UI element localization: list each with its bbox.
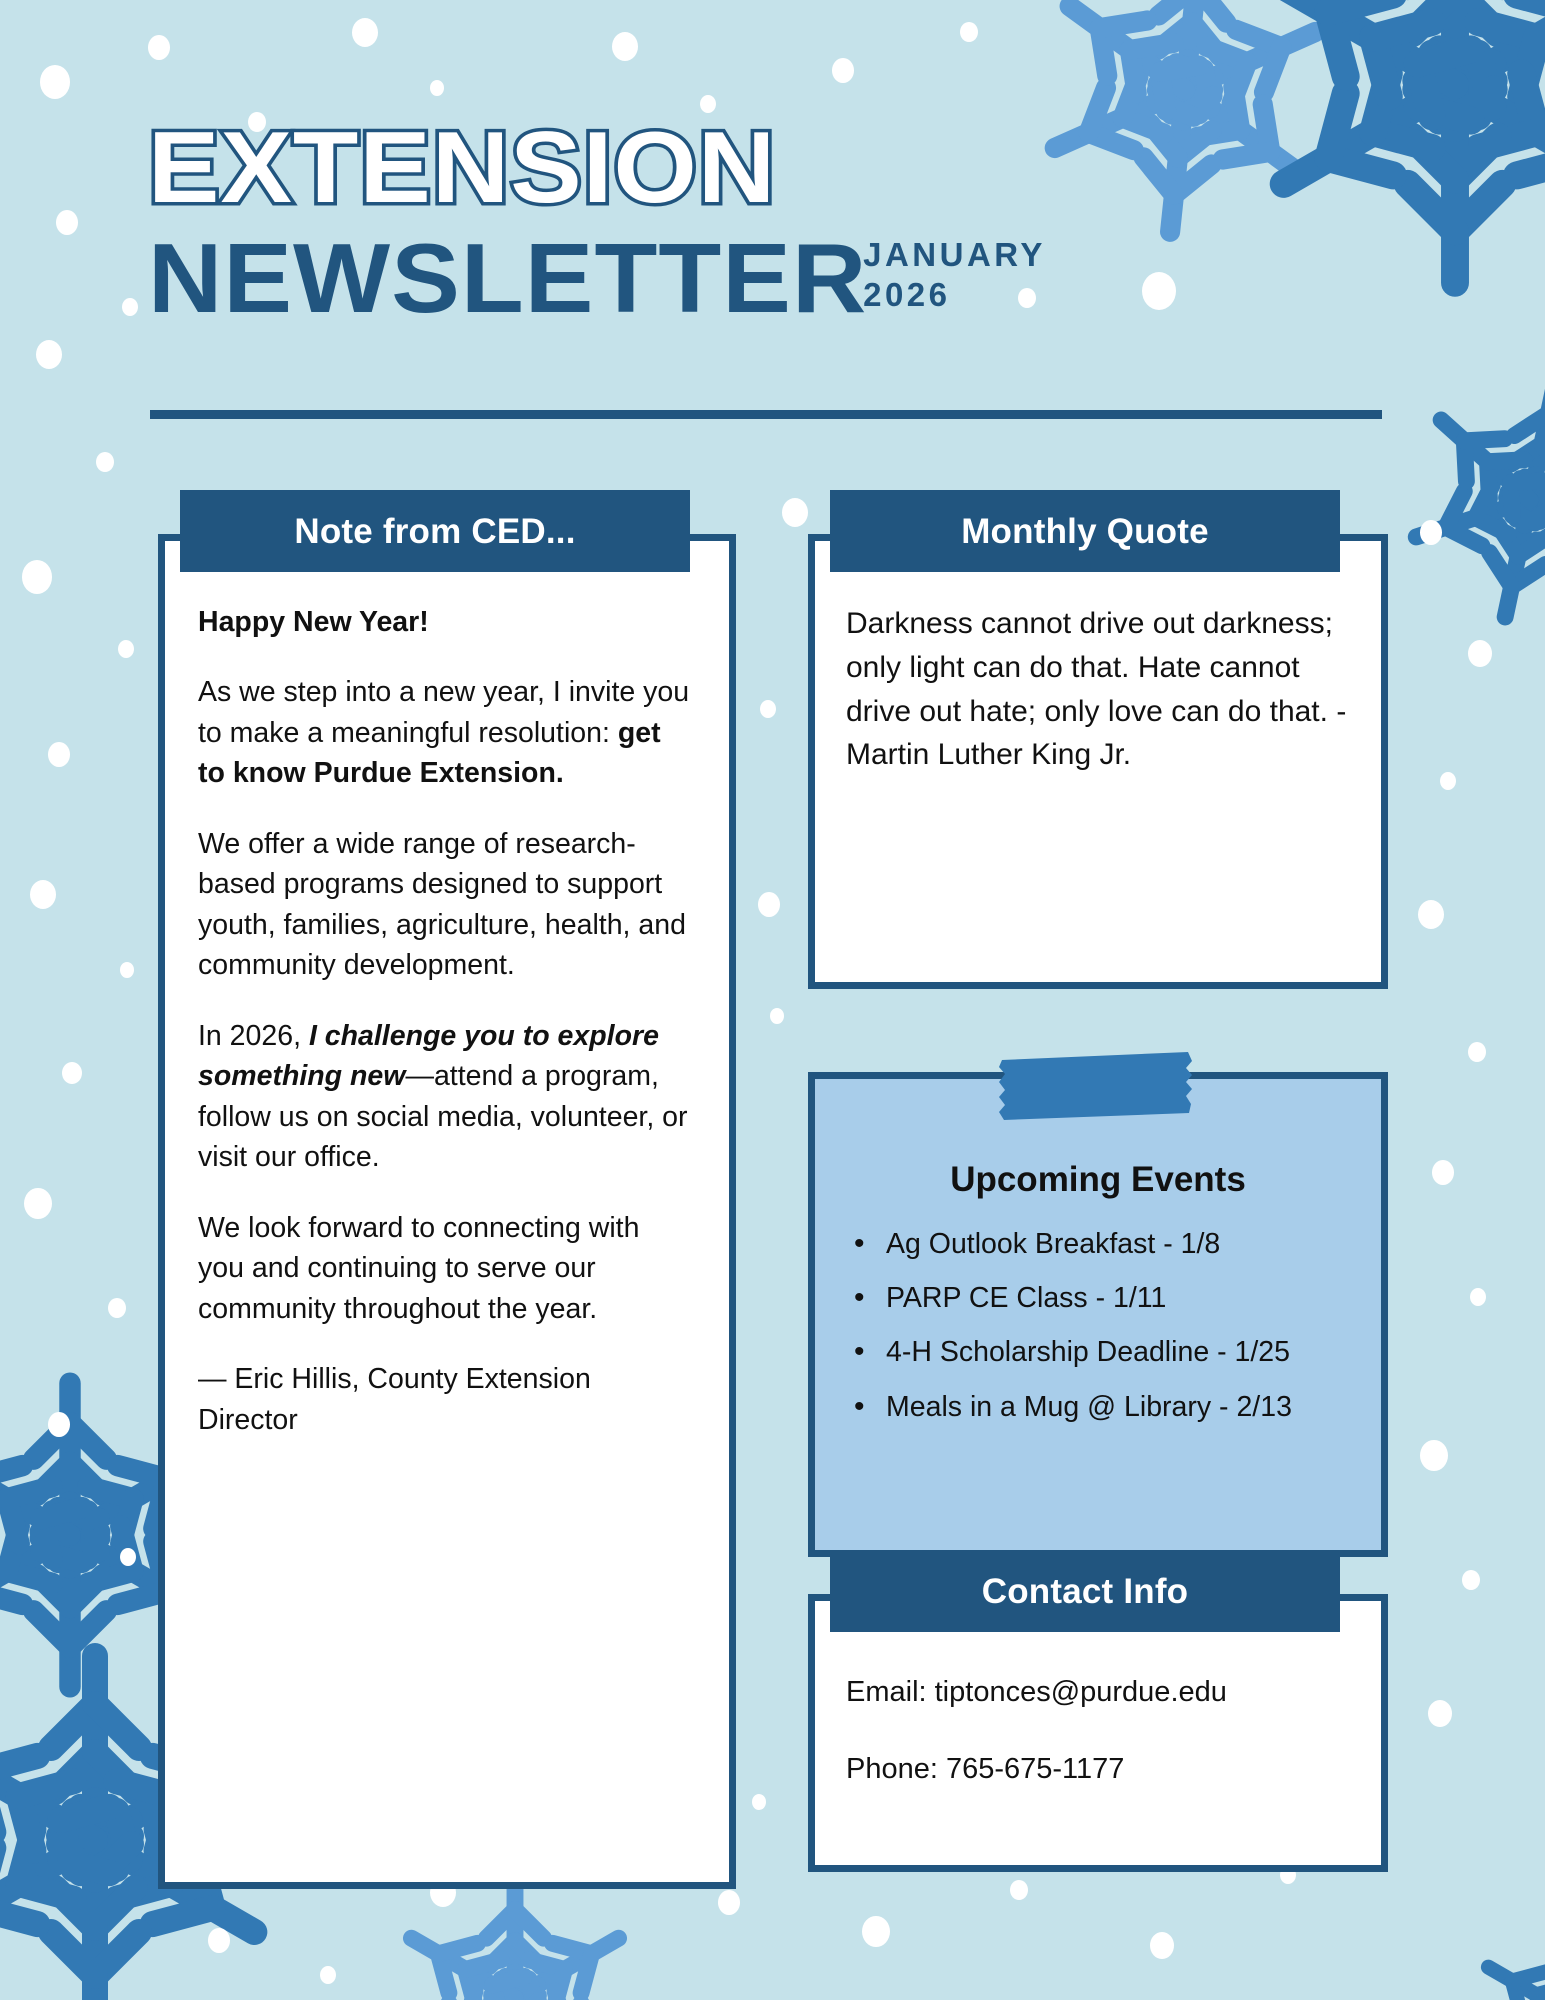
snow-dot-icon	[62, 1062, 82, 1084]
ced-programs-text: We offer a wide range of research-based …	[198, 828, 686, 981]
upcoming-events-content: Upcoming Events Ag Outlook Breakfast - 1…	[808, 1072, 1388, 1439]
snow-dot-icon	[758, 892, 780, 917]
snow-dot-icon	[612, 32, 638, 61]
masthead-divider	[150, 410, 1382, 419]
snow-dot-icon	[1468, 640, 1492, 667]
ced-paragraph-closing: We look forward to connecting with you a…	[198, 1208, 692, 1329]
snow-dot-icon	[352, 18, 378, 47]
ced-challenge-lead: In 2026,	[198, 1020, 309, 1052]
issue-date: JANUARY 2026	[863, 235, 1046, 328]
snow-dot-icon	[30, 880, 56, 909]
snow-dot-icon	[22, 560, 52, 594]
snow-dot-icon	[1150, 1932, 1174, 1959]
snow-dot-icon	[148, 35, 170, 60]
snow-dot-icon	[108, 1298, 126, 1318]
snowflake-bottom-right-icon	[1465, 1905, 1545, 2000]
snow-dot-icon	[782, 498, 808, 527]
list-item: PARP CE Class - 1/11	[838, 1276, 1358, 1320]
ced-signature: — Eric Hillis, County Extension Director	[198, 1359, 692, 1440]
ced-closing-text: We look forward to connecting with you a…	[198, 1212, 639, 1325]
snow-dot-icon	[1428, 1700, 1452, 1727]
snow-dot-icon	[862, 1916, 890, 1947]
list-item: Ag Outlook Breakfast - 1/8	[838, 1222, 1358, 1266]
snow-dot-icon	[56, 210, 78, 235]
snow-dot-icon	[208, 1928, 230, 1953]
snow-dot-icon	[96, 452, 114, 472]
newsletter-title-row: NEWSLETTER JANUARY 2026	[148, 229, 1398, 327]
snow-dot-icon	[320, 1966, 336, 1984]
upcoming-events-list: Ag Outlook Breakfast - 1/8 PARP CE Class…	[838, 1222, 1358, 1429]
snow-dot-icon	[752, 1794, 766, 1810]
snow-dot-icon	[40, 65, 70, 99]
snow-dot-icon	[1010, 1880, 1028, 1900]
snowflake-right-mid-icon	[1376, 346, 1545, 654]
snow-dot-icon	[1420, 520, 1442, 545]
monthly-quote-body: Darkness cannot drive out darkness; only…	[808, 534, 1388, 777]
contact-phone: Phone: 765-675-1177	[846, 1749, 1352, 1790]
snow-dot-icon	[430, 80, 444, 96]
ced-signature-text: — Eric Hillis, County Extension Director	[198, 1363, 591, 1435]
snow-dot-icon	[1468, 1042, 1486, 1062]
snow-dot-icon	[48, 1412, 70, 1437]
upcoming-events-title: Upcoming Events	[838, 1160, 1358, 1200]
snow-dot-icon	[1470, 1288, 1486, 1306]
snow-dot-icon	[120, 962, 134, 978]
snow-dot-icon	[960, 22, 978, 42]
ced-paragraph-resolution: As we step into a new year, I invite you…	[198, 672, 692, 793]
snow-dot-icon	[1418, 900, 1444, 929]
snow-dot-icon	[1440, 772, 1456, 790]
masthead: EXTENSION NEWSLETTER JANUARY 2026	[148, 118, 1398, 327]
newsletter-page: EXTENSION NEWSLETTER JANUARY 2026 Note f…	[0, 0, 1545, 2000]
ced-paragraph-programs: We offer a wide range of research-based …	[198, 824, 692, 986]
snow-dot-icon	[760, 700, 776, 718]
snow-dot-icon	[770, 1008, 784, 1024]
snow-dot-icon	[700, 95, 716, 113]
snow-dot-icon	[122, 298, 138, 316]
snow-dot-icon	[1462, 1570, 1480, 1590]
snow-dot-icon	[1432, 1160, 1454, 1185]
page-title-newsletter: NEWSLETTER	[148, 229, 867, 327]
monthly-quote-text: Darkness cannot drive out darkness; only…	[846, 602, 1352, 777]
page-title-extension: EXTENSION	[148, 118, 1473, 219]
snow-dot-icon	[832, 58, 854, 83]
snow-dot-icon	[36, 340, 62, 369]
snow-dot-icon	[24, 1188, 52, 1219]
list-item: Meals in a Mug @ Library - 2/13	[838, 1385, 1358, 1429]
ced-paragraph-challenge: In 2026, I challenge you to explore some…	[198, 1016, 692, 1178]
snow-dot-icon	[48, 742, 70, 767]
ced-paragraph-greeting: Happy New Year!	[198, 602, 692, 642]
snow-dot-icon	[120, 1548, 136, 1566]
ced-greeting-text: Happy New Year!	[198, 606, 429, 638]
ced-resolution-text: As we step into a new year, I invite you…	[198, 676, 689, 748]
note-from-ced-body: Happy New Year! As we step into a new ye…	[158, 534, 736, 1440]
snow-dot-icon	[1420, 1440, 1448, 1471]
snow-dot-icon	[118, 640, 134, 658]
snow-dot-icon	[718, 1890, 740, 1915]
contact-info-body: Email: tiptonces@purdue.edu Phone: 765-6…	[808, 1594, 1388, 1789]
contact-email: Email: tiptonces@purdue.edu	[846, 1672, 1352, 1713]
list-item: 4-H Scholarship Deadline - 1/25	[838, 1330, 1358, 1374]
